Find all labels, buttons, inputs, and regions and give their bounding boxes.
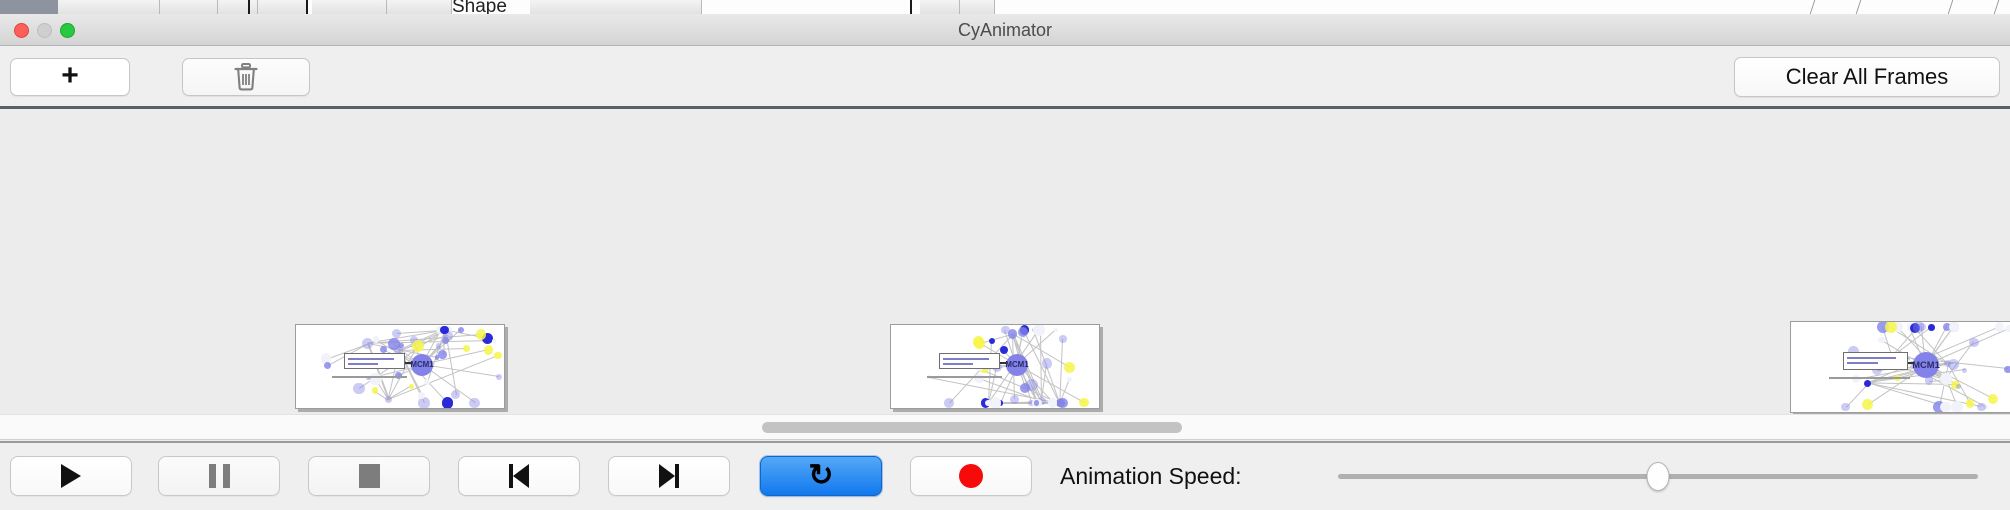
timeline-panel[interactable]: MCM1MCM1MCM1 2131415161718 Seconds (0, 109, 2010, 414)
network-node (1940, 402, 1950, 412)
network-node (2004, 366, 2010, 374)
network-caption-line (927, 376, 1003, 378)
trash-icon (233, 62, 259, 92)
network-node (1977, 403, 1986, 412)
clear-all-frames-label: Clear All Frames (1786, 64, 1949, 90)
frame-thumbnail[interactable]: MCM1 (890, 324, 1100, 409)
network-annotation-box (939, 353, 1000, 369)
loop-icon: ↻ (808, 461, 833, 491)
skip-to-end-icon (659, 464, 679, 488)
network-node (1034, 400, 1040, 406)
network-node (438, 350, 447, 359)
skip-to-start-icon (509, 464, 529, 488)
network-hub-node: MCM1 (1006, 354, 1028, 376)
network-node (1064, 362, 1075, 373)
add-frame-button[interactable]: + (10, 58, 130, 96)
network-node (385, 396, 392, 403)
network-node (418, 397, 430, 409)
network-node (1033, 324, 1045, 336)
skip-end-button[interactable] (608, 456, 730, 496)
window-title: CyAnimator (0, 14, 2010, 46)
cyanimator-window: Shape CyAnimator + (0, 0, 2010, 510)
frame-network-preview: MCM1 (295, 324, 505, 409)
network-node (442, 397, 454, 409)
network-node (494, 352, 501, 359)
network-node (484, 345, 494, 355)
clear-all-frames-button[interactable]: Clear All Frames (1734, 57, 2000, 97)
network-node (1042, 358, 1053, 369)
network-node (424, 379, 430, 385)
network-node (1928, 324, 1934, 330)
network-node (388, 338, 400, 350)
network-node (1048, 398, 1058, 408)
network-node (496, 374, 503, 381)
network-node (469, 398, 480, 409)
network-node (1054, 328, 1058, 332)
network-node (1841, 403, 1850, 412)
stop-icon (359, 464, 380, 488)
animation-speed-label: Animation Speed: (1060, 456, 1242, 496)
playback-toolbar: ↻ Animation Speed: (0, 441, 2010, 510)
network-node (2005, 325, 2010, 332)
network-node (412, 340, 424, 352)
network-node (1079, 398, 1088, 407)
background-partial-label: Shape (452, 0, 507, 14)
network-node (451, 390, 460, 399)
network-node (1969, 338, 1979, 348)
record-icon (959, 464, 983, 488)
frame-thumbnail[interactable]: MCM1 (1790, 321, 2010, 413)
network-node (1988, 394, 1998, 404)
network-node (1949, 322, 1959, 332)
network-node (1951, 401, 1963, 413)
network-node (1008, 329, 1018, 339)
network-node (442, 337, 449, 344)
animation-speed-slider[interactable] (1338, 474, 1978, 479)
network-node (1878, 337, 1884, 343)
background-window-strip: Shape (0, 0, 2010, 14)
network-node (362, 338, 373, 349)
skip-start-button[interactable] (458, 456, 580, 496)
network-node (1026, 379, 1038, 391)
timeline-scrollbar[interactable] (0, 414, 2010, 440)
network-node (463, 345, 470, 352)
network-node (476, 329, 487, 340)
network-node (944, 398, 954, 408)
plus-icon: + (61, 61, 79, 91)
network-node (1059, 335, 1067, 343)
network-annotation-box (1843, 352, 1908, 369)
frame-network-preview: MCM1 (1790, 321, 2010, 413)
network-node (1864, 380, 1871, 387)
frame-thumbnail[interactable]: MCM1 (295, 324, 505, 409)
network-hub-node: MCM1 (411, 354, 433, 376)
network-node (392, 329, 401, 338)
network-caption-line (332, 376, 408, 378)
timeline-scrollbar-thumb[interactable] (762, 422, 1182, 433)
loop-button[interactable]: ↻ (760, 456, 882, 496)
network-node (440, 326, 449, 335)
network-node (492, 339, 496, 343)
network-node (1962, 368, 1967, 373)
network-node (1862, 399, 1873, 410)
stop-button[interactable] (308, 456, 430, 496)
network-node (989, 338, 996, 345)
play-button[interactable] (10, 456, 132, 496)
animation-speed-thumb[interactable] (1647, 462, 1670, 491)
network-caption-line (1829, 377, 1910, 379)
frame-toolbar: + Clear All Frames (0, 46, 2010, 108)
pause-button[interactable] (158, 456, 280, 496)
title-bar: CyAnimator (0, 14, 2010, 46)
pause-icon (209, 464, 230, 488)
network-node (418, 392, 424, 398)
network-node (353, 383, 364, 394)
network-node (1995, 322, 2004, 331)
network-node (1057, 398, 1068, 409)
network-node (369, 373, 381, 385)
network-node (324, 362, 331, 369)
record-button[interactable] (910, 456, 1032, 496)
network-node (1067, 377, 1072, 382)
play-icon (61, 464, 81, 488)
delete-frame-button[interactable] (182, 58, 310, 96)
network-node (1918, 323, 1925, 330)
network-annotation-box (344, 353, 405, 369)
network-node (1966, 399, 1974, 407)
frame-network-preview: MCM1 (890, 324, 1100, 409)
